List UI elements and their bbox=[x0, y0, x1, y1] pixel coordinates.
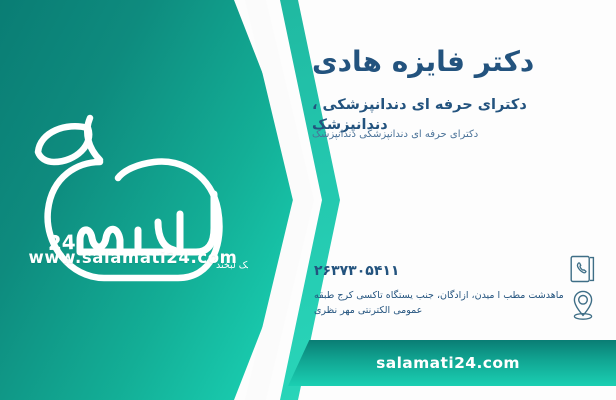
doctor-specialty-sub: دکترای حرفه ای دندانپزشکی دندانپزشک bbox=[312, 128, 598, 142]
address-line-1: ماهدشت مطب ا میدن، ازادگان، جنب یستگاه ت… bbox=[314, 288, 566, 303]
doctor-name: دکتر فایزه هادی bbox=[312, 44, 598, 79]
footer-website-url: salamati24.com bbox=[376, 354, 528, 372]
address-line-2: عمومی الکترنتی مهر نظری bbox=[314, 303, 566, 318]
business-card: 24 به راحتی یک لبخند www.salamati24.com … bbox=[0, 0, 616, 400]
phone-number-value: ۲۶۳۷۳۰۵۴۱۱ bbox=[314, 263, 399, 279]
address-text-block: ماهدشت مطب ا میدن، ازادگان، جنب یستگاه ت… bbox=[310, 288, 566, 318]
contact-row-address: ماهدشت مطب ا میدن، ازادگان، جنب یستگاه ت… bbox=[310, 288, 600, 322]
map-pin-icon bbox=[566, 288, 600, 322]
phone-book-icon bbox=[566, 252, 600, 286]
contact-row-phone: ۲۶۳۷۳۰۵۴۱۱ bbox=[310, 252, 600, 286]
logo-website-url: www.salamati24.com bbox=[18, 248, 248, 267]
footer-bar: salamati24.com bbox=[288, 340, 616, 386]
phone-number-text: ۲۶۳۷۳۰۵۴۱۱ bbox=[310, 260, 566, 279]
